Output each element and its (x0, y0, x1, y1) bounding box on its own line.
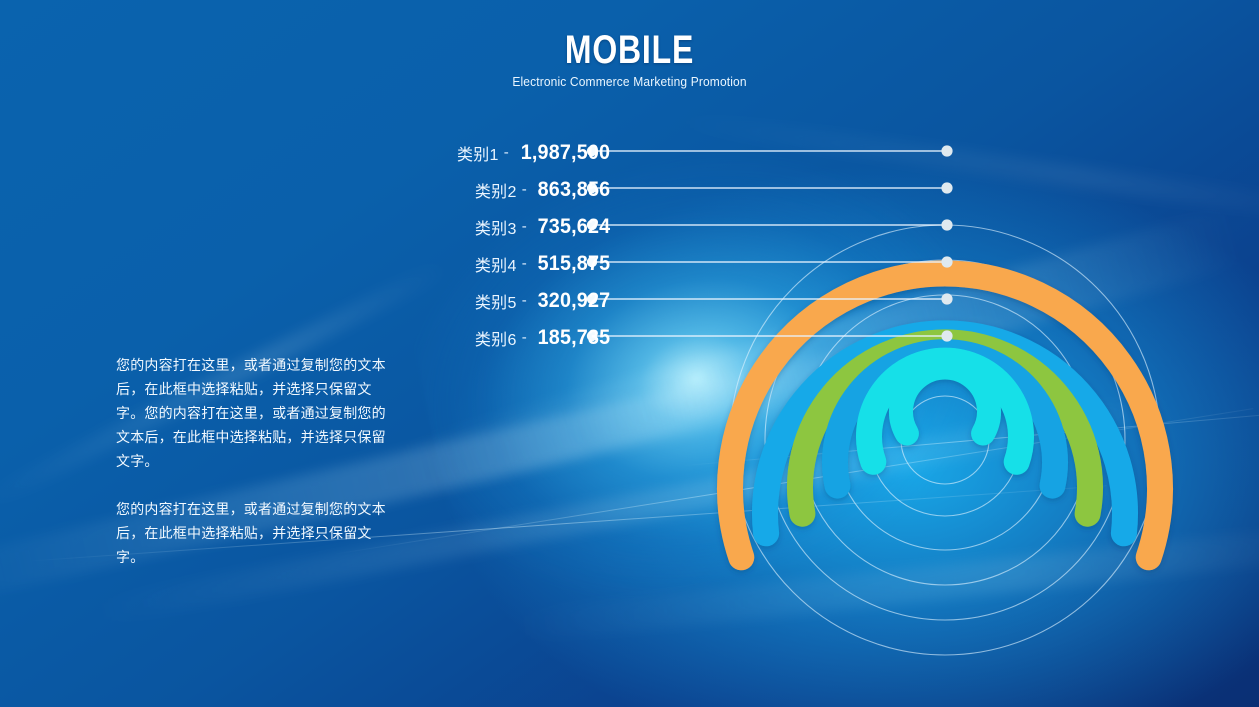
legend-separator: - (517, 218, 533, 235)
legend-separator: - (499, 144, 515, 161)
chart-leader-lines (592, 151, 947, 336)
page-title: MOBILE (126, 30, 1133, 70)
legend-category-label: 类别6 (475, 326, 517, 350)
arc-marker-6[interactable] (941, 330, 952, 341)
arc-marker-4[interactable] (941, 256, 952, 267)
legend-value: 515,875 (537, 252, 610, 276)
legend-row[interactable]: 类别6 - 185,735 (380, 319, 610, 356)
legend-row[interactable]: 类别1 - 1,987,500 (380, 134, 610, 171)
legend-category-label: 类别5 (475, 289, 517, 313)
legend-row[interactable]: 类别3 - 735,624 (380, 208, 610, 245)
arc-series-6[interactable] (901, 367, 989, 433)
legend-separator: - (517, 329, 533, 346)
legend-separator: - (517, 292, 533, 309)
legend-value: 735,624 (537, 215, 610, 239)
legend-separator: - (517, 181, 533, 198)
legend-value: 1,987,500 (520, 141, 610, 165)
arc-marker-5[interactable] (941, 293, 952, 304)
legend-category-label: 类别3 (475, 215, 517, 239)
legend-value: 863,856 (537, 178, 610, 202)
legend-category-label: 类别1 (457, 141, 499, 165)
arc-marker-2[interactable] (941, 182, 952, 193)
chart-arc-markers (941, 145, 952, 341)
arc-marker-3[interactable] (941, 219, 952, 230)
arc-marker-1[interactable] (941, 145, 952, 156)
legend-row[interactable]: 类别4 - 515,875 (380, 245, 610, 282)
slide-header: MOBILE Electronic Commerce Marketing Pro… (0, 30, 1259, 89)
legend-value: 185,735 (537, 326, 610, 350)
radial-arc-chart-svg (613, 75, 1259, 707)
legend-category-label: 类别4 (475, 252, 517, 276)
slide-root: MOBILE Electronic Commerce Marketing Pro… (0, 0, 1259, 707)
radial-arc-chart (613, 75, 1259, 707)
page-subtitle: Electronic Commerce Marketing Promotion (25, 75, 1234, 89)
body-paragraph-1: 您的内容打在这里，或者通过复制您的文本后，在此框中选择粘贴，并选择只保留文字。您… (116, 353, 398, 473)
body-paragraph-2: 您的内容打在这里，或者通过复制您的文本后，在此框中选择粘贴，并选择只保留文字。 (116, 497, 398, 569)
legend-category-label: 类别2 (475, 178, 517, 202)
legend-separator: - (517, 255, 533, 272)
chart-legend: 类别1 - 1,987,500 类别2 - 863,856 类别3 - 735,… (380, 134, 610, 356)
body-copy: 您的内容打在这里，或者通过复制您的文本后，在此框中选择粘贴，并选择只保留文字。您… (116, 353, 398, 569)
legend-row[interactable]: 类别5 - 320,927 (380, 282, 610, 319)
chart-arcs (730, 274, 1160, 558)
legend-row[interactable]: 类别2 - 863,856 (380, 171, 610, 208)
legend-value: 320,927 (537, 289, 610, 313)
